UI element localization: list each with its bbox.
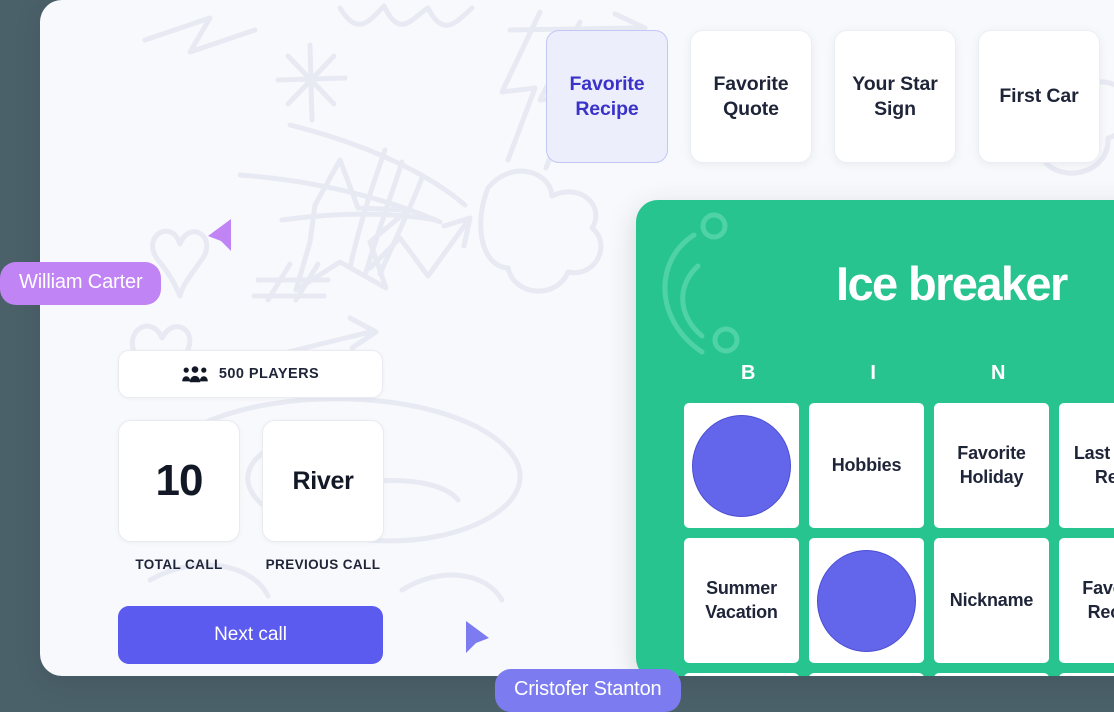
bingo-card: Ice breaker B I N G Hobbies Favorite Hol… <box>636 200 1114 676</box>
cursor-pointer-icon <box>462 620 492 654</box>
prompt-card-first-car[interactable]: First Car <box>978 30 1100 163</box>
bingo-cell[interactable] <box>809 673 924 676</box>
bingo-cell[interactable]: Favorite Recipe <box>1059 538 1114 663</box>
cursor-label: Cristofer Stanton <box>495 669 681 712</box>
bingo-column-g: G <box>1061 362 1114 385</box>
previous-call-block: River PREVIOUS CALL <box>262 420 384 572</box>
bingo-column-b: B <box>686 362 811 385</box>
bingo-cell[interactable]: Summer Vacation <box>684 538 799 663</box>
players-count-pill: 500 PLAYERS <box>118 350 383 398</box>
prompt-card-row: Favorite Recipe Favorite Quote Your Star… <box>546 30 1100 163</box>
prompt-card-your-star-sign[interactable]: Your Star Sign <box>834 30 956 163</box>
bingo-cell[interactable]: Last Book Read <box>1059 403 1114 528</box>
prompt-card-favorite-quote[interactable]: Favorite Quote <box>690 30 812 163</box>
bingo-cell[interactable]: Favorite Holiday <box>934 403 1049 528</box>
bingo-column-i: I <box>811 362 936 385</box>
bingo-grid: Hobbies Favorite Holiday Last Book Read … <box>684 403 1114 676</box>
total-call-block: 10 TOTAL CALL <box>118 420 240 572</box>
app-panel: Favorite Recipe Favorite Quote Your Star… <box>40 0 1114 676</box>
bingo-marker-icon <box>817 550 916 652</box>
bingo-cell[interactable] <box>809 538 924 663</box>
bingo-cell[interactable] <box>684 403 799 528</box>
bingo-cell[interactable]: Hobbies <box>809 403 924 528</box>
people-group-icon <box>182 366 208 383</box>
total-call-box: 10 <box>118 420 240 542</box>
bingo-cell[interactable] <box>1059 673 1114 676</box>
prompt-card-favorite-recipe[interactable]: Favorite Recipe <box>546 30 668 163</box>
cursor-pointer-icon <box>205 218 235 252</box>
previous-call-caption: PREVIOUS CALL <box>262 557 384 572</box>
previous-call-box: River <box>262 420 384 542</box>
call-stats-row: 10 TOTAL CALL River PREVIOUS CALL <box>118 420 384 572</box>
bingo-card-title: Ice breaker <box>836 256 1067 311</box>
total-call-caption: TOTAL CALL <box>118 557 240 572</box>
bingo-cell[interactable] <box>684 673 799 676</box>
bingo-column-n: N <box>936 362 1061 385</box>
players-count-label: 500 PLAYERS <box>219 366 319 382</box>
cursor-label: William Carter <box>0 262 161 305</box>
bingo-marker-icon <box>692 415 791 517</box>
bingo-column-headers: B I N G <box>686 362 1114 385</box>
bingo-cell[interactable] <box>934 673 1049 676</box>
previous-call-value: River <box>292 467 353 496</box>
next-call-button[interactable]: Next call <box>118 606 383 664</box>
bingo-cell[interactable]: Nickname <box>934 538 1049 663</box>
total-call-value: 10 <box>156 456 203 506</box>
